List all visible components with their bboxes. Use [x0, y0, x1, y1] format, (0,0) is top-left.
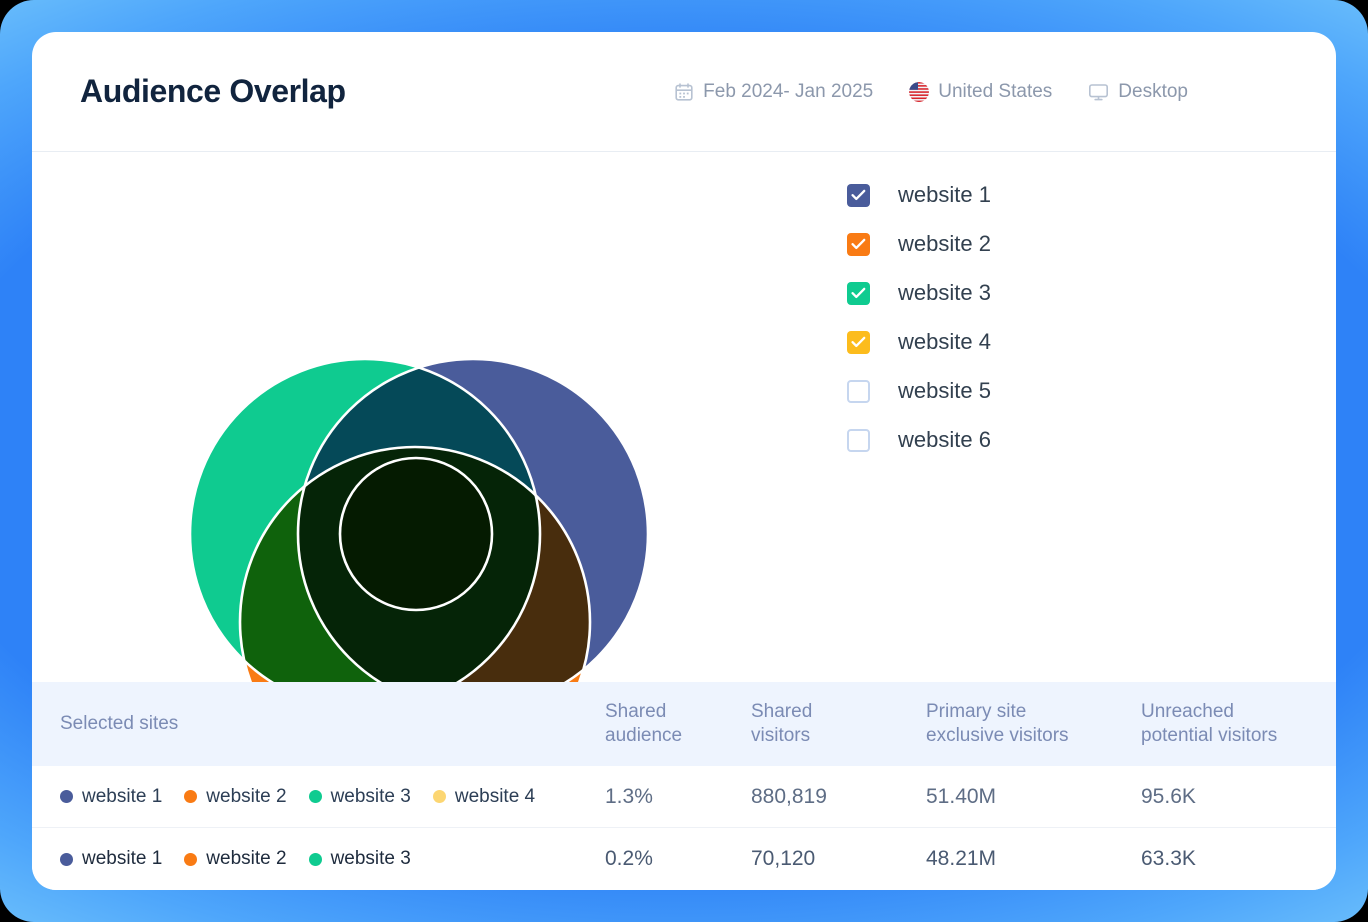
card-body: website 1website 2website 3website 4webs…	[32, 152, 1336, 682]
legend-item-website-6[interactable]: website 6	[847, 427, 991, 453]
checkbox-checked-icon[interactable]	[847, 331, 870, 354]
checkbox-unchecked-icon[interactable]	[847, 380, 870, 403]
site-color-dot-icon	[60, 853, 73, 866]
legend-item-label: website 5	[898, 378, 991, 404]
checkbox-unchecked-icon[interactable]	[847, 429, 870, 452]
venn-diagram-container	[32, 152, 792, 682]
calendar-icon	[674, 82, 694, 102]
legend-item-label: website 3	[898, 280, 991, 306]
col-header-shared-audience: Sharedaudience	[605, 700, 751, 749]
legend-item-website-4[interactable]: website 4	[847, 329, 991, 355]
overlap-table: Selected sites Sharedaudience Sharedvisi…	[32, 682, 1336, 890]
desktop-icon	[1088, 82, 1109, 102]
venn-diagram[interactable]	[32, 152, 792, 682]
site-label: website 1	[82, 786, 162, 808]
site-chip: website 3	[309, 848, 411, 870]
site-color-dot-icon	[184, 853, 197, 866]
site-color-dot-icon	[60, 790, 73, 803]
site-label: website 2	[206, 848, 286, 870]
site-chip: website 3	[309, 786, 411, 808]
checkbox-checked-icon[interactable]	[847, 184, 870, 207]
site-chip: website 4	[433, 786, 535, 808]
country-filter[interactable]: United States	[909, 81, 1052, 103]
legend-item-label: website 4	[898, 329, 991, 355]
site-label: website 3	[331, 786, 411, 808]
site-chip: website 2	[184, 848, 286, 870]
table-body: website 1website 2website 3website 41.3%…	[32, 766, 1336, 890]
table-row[interactable]: website 1website 2website 3website 41.3%…	[32, 766, 1336, 828]
legend-item-website-3[interactable]: website 3	[847, 280, 991, 306]
country-label: United States	[938, 81, 1052, 103]
page-title: Audience Overlap	[80, 73, 346, 110]
primary-site-exclusive-visitors-cell: 51.40M	[926, 785, 1141, 809]
audience-overlap-card: Audience Overlap	[32, 32, 1336, 890]
date-range-label: Feb 2024- Jan 2025	[703, 81, 873, 103]
date-range-filter[interactable]: Feb 2024- Jan 2025	[674, 81, 873, 103]
site-color-dot-icon	[309, 790, 322, 803]
site-label: website 3	[331, 848, 411, 870]
shared-audience-cell: 1.3%	[605, 785, 751, 809]
selected-sites-cell: website 1website 2website 3	[60, 848, 605, 870]
legend-item-website-5[interactable]: website 5	[847, 378, 991, 404]
col-header-selected-sites: Selected sites	[60, 712, 605, 736]
site-color-dot-icon	[309, 853, 322, 866]
legend-item-label: website 1	[898, 182, 991, 208]
site-chip: website 1	[60, 848, 162, 870]
device-filter[interactable]: Desktop	[1088, 81, 1188, 103]
site-label: website 1	[82, 848, 162, 870]
header-meta-group: Feb 2024- Jan 2025	[674, 81, 1288, 103]
legend-item-label: website 2	[898, 231, 991, 257]
website-legend: website 1website 2website 3website 4webs…	[792, 152, 991, 682]
site-chip: website 1	[60, 786, 162, 808]
legend-item-label: website 6	[898, 427, 991, 453]
app-frame: Audience Overlap	[0, 0, 1368, 922]
shared-audience-cell: 0.2%	[605, 847, 751, 871]
table-header-row: Selected sites Sharedaudience Sharedvisi…	[32, 682, 1336, 766]
device-label: Desktop	[1118, 81, 1188, 103]
col-header-unreached-potential-visitors: Unreachedpotential visitors	[1141, 700, 1336, 749]
selected-sites-cell: website 1website 2website 3website 4	[60, 786, 605, 808]
site-color-dot-icon	[184, 790, 197, 803]
legend-item-website-2[interactable]: website 2	[847, 231, 991, 257]
site-label: website 2	[206, 786, 286, 808]
card-header: Audience Overlap	[32, 32, 1336, 152]
shared-visitors-cell: 880,819	[751, 785, 926, 809]
us-flag-icon	[909, 82, 929, 102]
site-label: website 4	[455, 786, 535, 808]
legend-item-website-1[interactable]: website 1	[847, 182, 991, 208]
site-color-dot-icon	[433, 790, 446, 803]
site-chip: website 2	[184, 786, 286, 808]
unreached-potential-visitors-cell: 63.3K	[1141, 847, 1336, 871]
primary-site-exclusive-visitors-cell: 48.21M	[926, 847, 1141, 871]
col-header-shared-visitors: Sharedvisitors	[751, 700, 926, 749]
checkbox-checked-icon[interactable]	[847, 282, 870, 305]
table-row[interactable]: website 1website 2website 30.2%70,12048.…	[32, 828, 1336, 890]
col-header-primary-site-exclusive-visitors: Primary siteexclusive visitors	[926, 700, 1141, 749]
shared-visitors-cell: 70,120	[751, 847, 926, 871]
unreached-potential-visitors-cell: 95.6K	[1141, 785, 1336, 809]
checkbox-checked-icon[interactable]	[847, 233, 870, 256]
